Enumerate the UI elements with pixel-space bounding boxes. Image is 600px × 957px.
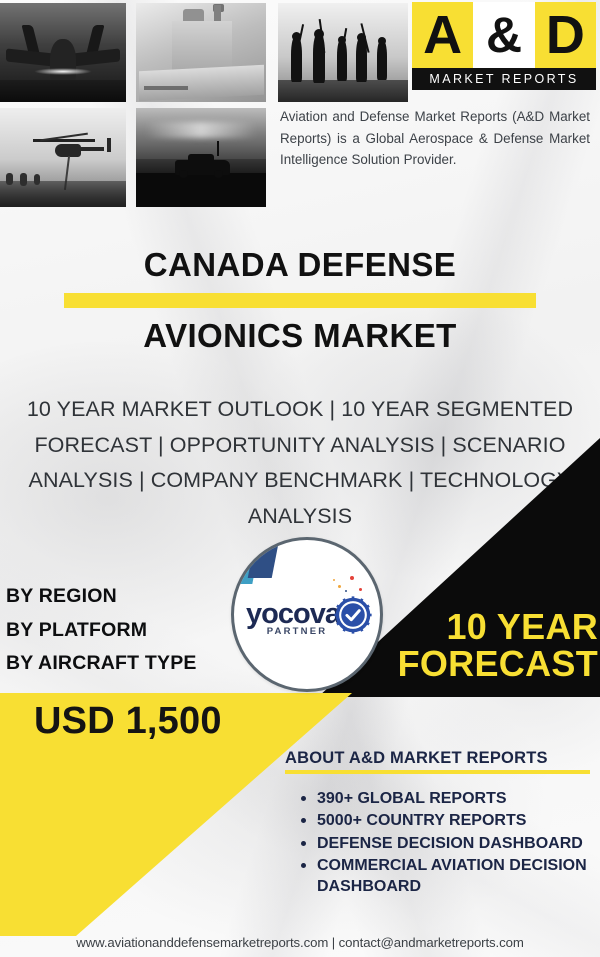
footer-contact[interactable]: www.aviationanddefensemarketreports.com … — [0, 935, 600, 950]
logo-ampersand: & — [473, 2, 534, 68]
price-label: USD 1,500 — [34, 700, 274, 743]
soldiers-silhouette-photo — [278, 3, 408, 102]
naval-warship-photo — [136, 3, 266, 102]
fighter-jet-photo — [0, 3, 126, 102]
bullet-dot-icon — [301, 841, 306, 846]
about-bullet-item: DEFENSE DECISION DASHBOARD — [301, 833, 591, 854]
about-bullet-item: 5000+ COUNTRY REPORTS — [301, 810, 591, 831]
logo-letter-row: A & D — [412, 2, 596, 68]
about-heading: ABOUT A&D MARKET REPORTS — [285, 749, 591, 768]
about-bullet-text: 390+ GLOBAL REPORTS — [317, 790, 507, 807]
forecast-line-1: 10 YEAR — [358, 608, 598, 645]
about-bullet-list: 390+ GLOBAL REPORTS 5000+ COUNTRY REPORT… — [301, 788, 591, 898]
helicopter-photo — [0, 108, 126, 207]
about-bullet-text: 5000+ COUNTRY REPORTS — [317, 812, 526, 829]
about-heading-underline — [285, 770, 590, 774]
forecast-line-2: FORECAST — [358, 645, 598, 682]
yocova-confetti-dots — [332, 576, 372, 596]
logo-letter-d: D — [535, 2, 596, 68]
company-description: Aviation and Defense Market Reports (A&D… — [280, 106, 590, 171]
logo-letter-a: A — [412, 2, 473, 68]
bullet-dot-icon — [301, 818, 306, 823]
marketing-poster: A & D MARKET REPORTS Aviation and Defens… — [0, 0, 600, 957]
armored-vehicle-photo — [136, 108, 266, 207]
report-title-line-1: CANADA DEFENSE — [0, 246, 600, 284]
logo-tagline: MARKET REPORTS — [412, 68, 596, 90]
report-title-line-2: AVIONICS MARKET — [0, 317, 600, 355]
forecast-callout: 10 YEAR FORECAST — [358, 608, 598, 683]
about-bullet-text: DEFENSE DECISION DASHBOARD — [317, 835, 583, 852]
header-photo-grid — [0, 0, 278, 212]
about-bullet-item: 390+ GLOBAL REPORTS — [301, 788, 591, 809]
verified-check-icon — [334, 596, 372, 634]
title-divider — [64, 293, 536, 308]
about-bullet-text: COMMERCIAL AVIATION DECISION DASHBOARD — [317, 857, 587, 895]
report-title-block: CANADA DEFENSE AVIONICS MARKET — [0, 246, 600, 355]
bullet-dot-icon — [301, 863, 306, 868]
ad-market-reports-logo: A & D MARKET REPORTS — [412, 2, 596, 90]
report-features-text: 10 YEAR MARKET OUTLOOK | 10 YEAR SEGMENT… — [18, 392, 582, 535]
yocova-partner-badge: yocova PARTNER — [231, 537, 383, 692]
bullet-dot-icon — [301, 796, 306, 801]
about-bullet-item: COMMERCIAL AVIATION DECISION DASHBOARD — [301, 855, 591, 898]
